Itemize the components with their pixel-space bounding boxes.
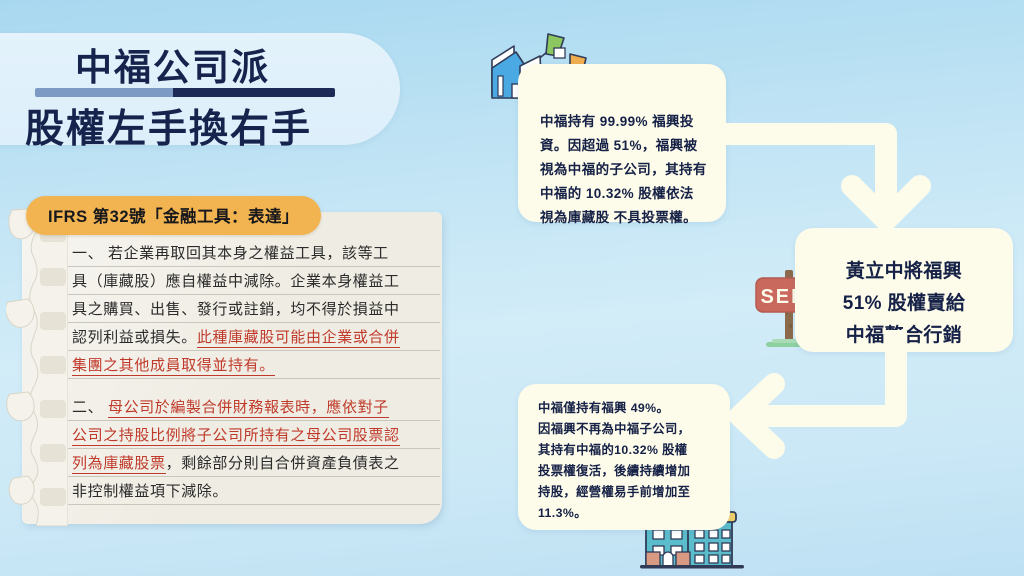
- ifrs-line: 具之購買、出售、發行或註銷，均不得於損益中: [72, 296, 432, 324]
- flow-line: 黃立中將福興: [795, 256, 1013, 288]
- ifrs-paragraph-2: 二、 母公司於編製合併財務報表時，應依對子 公司之持股比例將子公司所持有之母公司…: [72, 394, 432, 506]
- torn-paper-edge-icon: [6, 206, 68, 526]
- ifrs-badge: IFRS 第32號「金融工具：表達」: [26, 196, 321, 235]
- flow-line: 其持有中福的10.32% 股權: [538, 440, 690, 461]
- title-line-1: 中福公司派: [75, 37, 270, 91]
- flow-line: 因福興不再為中福子公司，: [538, 419, 690, 440]
- flow-card-step-1-text: 中福持有 99.99% 福興投 資。因超過 51%，福興被 視為中福的子公司，其…: [540, 110, 707, 230]
- flow-line: 11.3%。: [538, 503, 690, 524]
- ifrs-line: 具（庫藏股）應自權益中減除。企業本身權益工: [72, 268, 432, 296]
- ifrs-note-body: 一、 若企業再取回其本身之權益工具，該等工 具（庫藏股）應自權益中減除。企業本身…: [72, 240, 432, 520]
- ifrs-line: 二、 母公司於編製合併財務報表時，應依對子: [72, 394, 432, 422]
- ifrs-line: 一、 若企業再取回其本身之權益工具，該等工: [72, 240, 432, 268]
- flow-line: 資。因超過 51%，福興被: [540, 134, 707, 158]
- elbow-arrow-down-left-icon: [700, 330, 950, 470]
- flow-line: 中福持有 99.99% 福興投: [540, 110, 707, 134]
- flow-line: 中福僅持有福興 49%。: [538, 398, 690, 419]
- flow-card-step-3: 中福僅持有福興 49%。 因福興不再為中福子公司， 其持有中福的10.32% 股…: [518, 384, 730, 530]
- flow-card-step-3-text: 中福僅持有福興 49%。 因福興不再為中福子公司， 其持有中福的10.32% 股…: [538, 398, 690, 524]
- infographic-canvas: 中福公司派 股權左手換右手 IFRS 第32號「金融工具：表達」 一、 若: [0, 0, 1024, 576]
- ifrs-line: 公司之持股比例將子公司所持有之母公司股票認: [72, 422, 432, 450]
- title-underline-light: [35, 88, 173, 97]
- title-underline-dark: [173, 88, 335, 97]
- flow-line: 視為中福的子公司，其持有: [540, 158, 707, 182]
- flow-line: 視為庫藏股 不具投票權。: [540, 206, 707, 230]
- flow-line: 中福的 10.32% 股權依法: [540, 182, 707, 206]
- title-line-2: 股權左手換右手: [25, 98, 312, 154]
- ifrs-line: 列為庫藏股票，剩餘部分則自合併資產負債表之: [72, 450, 432, 478]
- flow-line: 投票權復活，後續持續增加: [538, 461, 690, 482]
- ifrs-line: 集團之其他成員取得並持有。: [72, 352, 432, 380]
- ifrs-line: 認列利益或損失。此種庫藏股可能由企業或合併: [72, 324, 432, 352]
- title-underline-bar: [35, 88, 335, 97]
- flow-line: 51% 股權賣給: [795, 288, 1013, 320]
- elbow-arrow-right-down-icon: [700, 120, 950, 248]
- flow-card-step-1: 中福持有 99.99% 福興投 資。因超過 51%，福興被 視為中福的子公司，其…: [518, 64, 726, 222]
- ifrs-paragraph-1: 一、 若企業再取回其本身之權益工具，該等工 具（庫藏股）應自權益中減除。企業本身…: [72, 240, 432, 380]
- flow-line: 持股，經營權易手前增加至: [538, 482, 690, 503]
- ifrs-line: 非控制權益項下減除。: [72, 478, 432, 506]
